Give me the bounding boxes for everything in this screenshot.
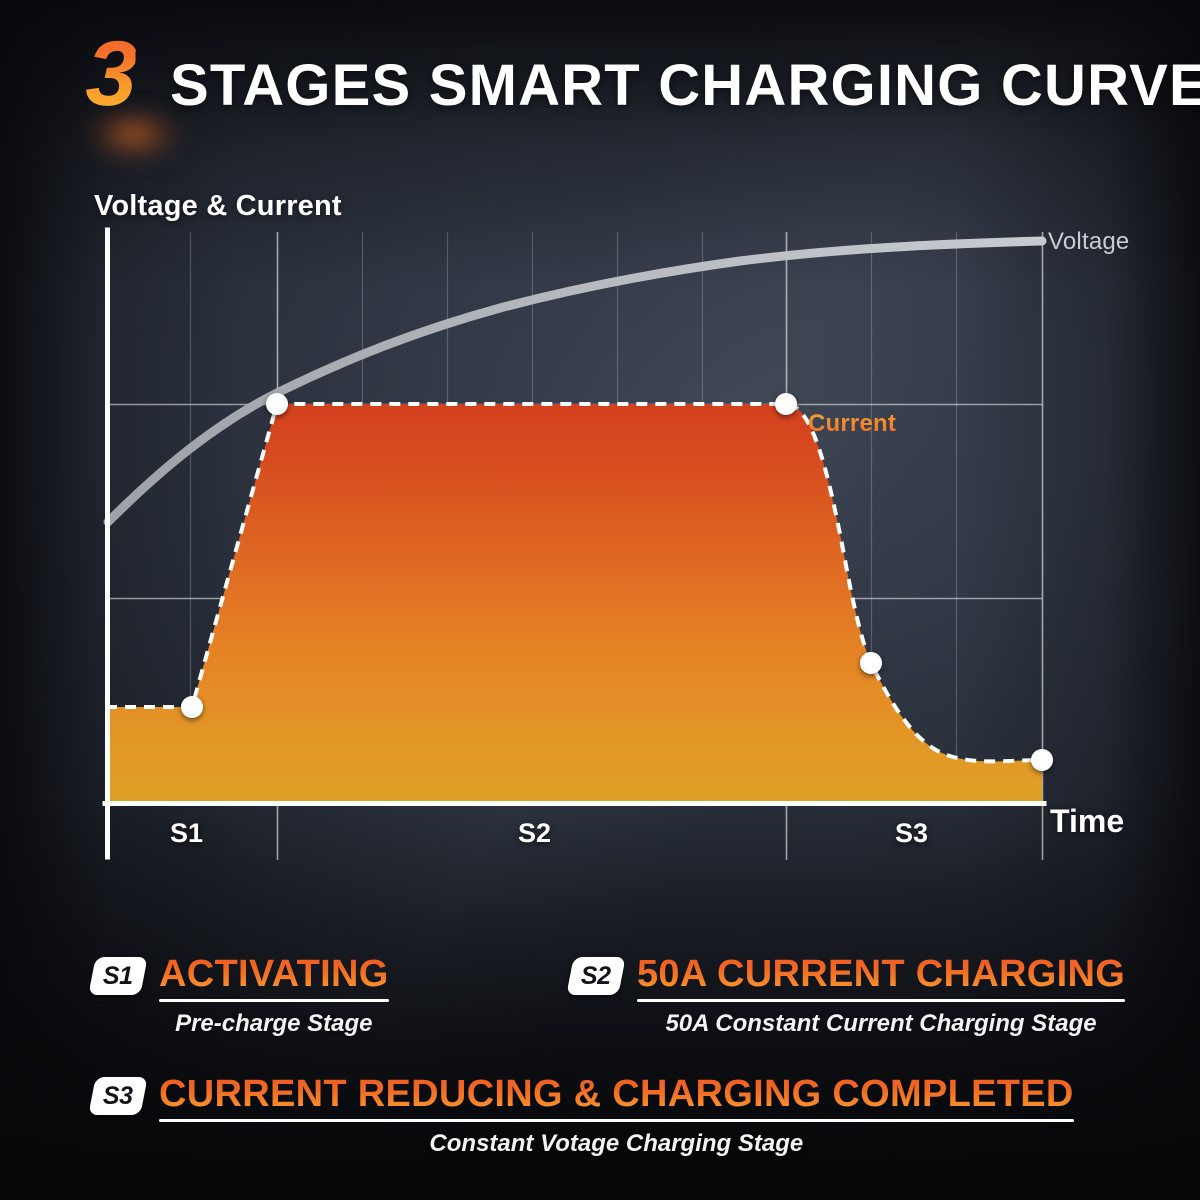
stage-badge-s2-label: S2 bbox=[581, 962, 611, 991]
stage-badge-s3: S3 bbox=[88, 1077, 147, 1115]
stage-badge-s1: S1 bbox=[88, 957, 147, 995]
stage-tick-s1: S1 bbox=[170, 818, 203, 849]
stage-legend: S1 ACTIVATING Pre-charge Stage S2 50A CU… bbox=[0, 930, 1200, 1180]
current-area-fill bbox=[105, 404, 1042, 803]
legend-item-s1-text: ACTIVATING Pre-charge Stage bbox=[159, 955, 389, 1038]
legend-item-s3-text: CURRENT REDUCING & CHARGING COMPLETED Co… bbox=[159, 1075, 1074, 1158]
legend-item-s1: S1 ACTIVATING Pre-charge Stage bbox=[92, 955, 389, 1038]
stage-badge-s2: S2 bbox=[566, 957, 625, 995]
legend-item-s2-rule bbox=[637, 999, 1125, 1002]
legend-item-s2-heading: 50A CURRENT CHARGING bbox=[637, 955, 1125, 995]
legend-item-s2: S2 50A CURRENT CHARGING 50A Constant Cur… bbox=[570, 955, 1125, 1038]
charging-curve-chart: Voltage & Current Time bbox=[0, 0, 1200, 900]
legend-item-s3-rule bbox=[159, 1119, 1074, 1122]
current-series-label: Current bbox=[808, 410, 896, 438]
legend-item-s2-subtitle: 50A Constant Current Charging Stage bbox=[637, 1010, 1125, 1038]
stage-tick-s3: S3 bbox=[895, 818, 928, 849]
stage-badge-s3-label: S3 bbox=[103, 1082, 133, 1111]
legend-item-s3: S3 CURRENT REDUCING & CHARGING COMPLETED… bbox=[92, 1075, 1074, 1158]
legend-item-s1-rule bbox=[159, 999, 389, 1002]
chart-plot-svg bbox=[0, 0, 1200, 900]
legend-item-s3-heading: CURRENT REDUCING & CHARGING COMPLETED bbox=[159, 1075, 1074, 1115]
stage-badge-s1-label: S1 bbox=[103, 962, 133, 991]
legend-item-s3-subtitle: Constant Votage Charging Stage bbox=[159, 1130, 1074, 1158]
legend-item-s2-text: 50A CURRENT CHARGING 50A Constant Curren… bbox=[637, 955, 1125, 1038]
legend-item-s1-heading: ACTIVATING bbox=[159, 955, 389, 995]
stage-tick-s2: S2 bbox=[518, 818, 551, 849]
legend-item-s1-subtitle: Pre-charge Stage bbox=[159, 1010, 389, 1038]
voltage-series-label: Voltage bbox=[1048, 228, 1129, 256]
infographic-root: 3 STAGES SMART CHARGING CURVE Voltage & … bbox=[0, 0, 1200, 1200]
